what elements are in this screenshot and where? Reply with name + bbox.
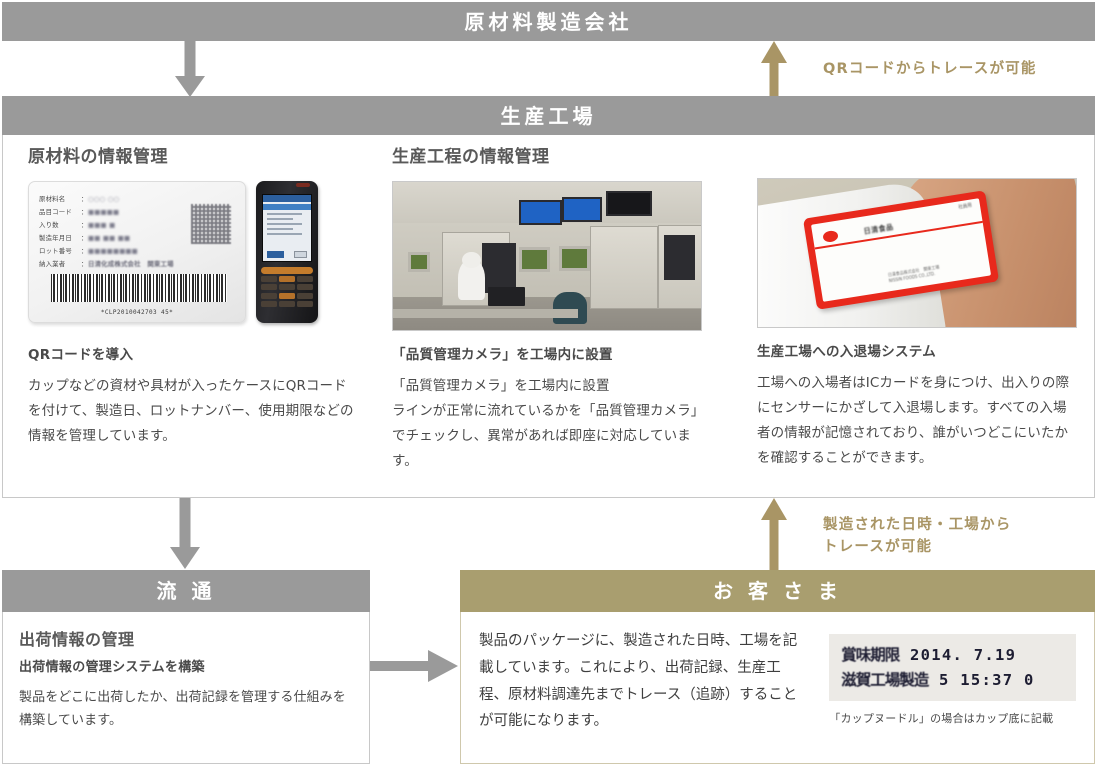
customer-content: 製品のパッケージに、製造された日時、工場を記載しています。これにより、出荷記録、… xyxy=(461,612,1094,735)
trace-caption-date-line1: 製造された日時・工場から xyxy=(823,514,1011,536)
trace-caption-date: 製造された日時・工場から トレースが可能 xyxy=(823,514,1011,559)
arrow-supplier-to-factory xyxy=(162,41,218,96)
photo-table xyxy=(393,309,578,318)
column-access-info: 日清食品 社員用 日清食品株式会社 関東工場NISSIN FOODS CO.,L… xyxy=(757,142,1077,471)
stamp-factory-label: 滋賀工場製造 xyxy=(841,671,928,689)
material-label-key: 入り数 xyxy=(39,220,81,229)
material-label-key: 納入業者 xyxy=(39,259,81,268)
arrow-head xyxy=(175,76,205,97)
material-label-value: ■■■■■ xyxy=(88,208,119,216)
scanner-key xyxy=(261,284,277,290)
arrow-trace-qr-up xyxy=(751,41,797,96)
material-media-row: 原材料名 ： ○○○ ○○ 品目コード ： ■■■■■ 入り数 ： ■■■ ■ … xyxy=(28,181,358,331)
trace-caption-date-line2: トレースが可能 xyxy=(823,536,1011,558)
scanner-key xyxy=(279,284,295,290)
distribution-banner-label: 流 通 xyxy=(157,581,216,601)
factory-banner-label: 生産工場 xyxy=(501,106,597,126)
scanner-text-line xyxy=(267,233,302,236)
access-sub-heading: 生産工場への入退場システム xyxy=(757,342,1077,362)
handheld-scanner-image xyxy=(256,181,318,323)
arrow-shaft xyxy=(770,58,779,96)
card-footer-text: 日清食品株式会社 関東工場NISSIN FOODS CO.,LTD. xyxy=(887,264,940,284)
material-label-image: 原材料名 ： ○○○ ○○ 品目コード ： ■■■■■ 入り数 ： ■■■ ■ … xyxy=(28,181,246,323)
arrow-factory-to-distribution xyxy=(157,498,213,570)
process-body-line1: 「品質管理カメラ」を工場内に設置 xyxy=(392,374,702,399)
photo-wall-monitor xyxy=(519,200,562,225)
material-label-colon: ： xyxy=(81,233,88,242)
scanner-key xyxy=(297,293,313,299)
material-label-colon: ： xyxy=(81,220,88,229)
column-heading xyxy=(757,142,1077,164)
material-label-key: 製造年月日 xyxy=(39,233,81,242)
factory-banner: 生産工場 xyxy=(2,96,1095,135)
distribution-panel: 出荷情報の管理 出荷情報の管理システムを構築 製品をどこに出荷したか、出荷記録を… xyxy=(2,612,370,764)
column-heading: 生産工程の情報管理 xyxy=(392,142,702,167)
distribution-content: 出荷情報の管理 出荷情報の管理システムを構築 製品をどこに出荷したか、出荷記録を… xyxy=(3,612,369,732)
scanner-text-line xyxy=(267,213,302,216)
photo-quality-camera-monitor xyxy=(519,247,550,272)
material-label-colon: ： xyxy=(81,207,88,216)
material-label-row: 納入業者 ： 日清化成株式会社 関東工場 xyxy=(39,257,236,270)
distribution-heading: 出荷情報の管理 xyxy=(19,626,353,650)
card-stripe xyxy=(814,221,983,250)
scanner-key xyxy=(297,284,313,290)
material-label-key: 品目コード xyxy=(39,207,81,216)
scanner-blue-row xyxy=(263,204,311,210)
scanner-screen-button xyxy=(267,251,284,258)
stamp-expiry-value: 2014. 7.19 xyxy=(910,646,1016,664)
supplier-banner: 原材料製造会社 xyxy=(2,2,1095,41)
photo-wall-monitor xyxy=(606,191,652,216)
scanner-key xyxy=(261,276,277,282)
barcode-text: *CLP2010042703 45* xyxy=(29,309,245,316)
photo-door-window xyxy=(664,235,695,279)
stamp-note: 「カップヌードル」の場合はカップ底に記載 xyxy=(829,710,1076,726)
arrow-distribution-to-customer xyxy=(370,650,460,682)
arrow-shaft xyxy=(180,498,191,548)
material-label-value: ■■■■■■■■ xyxy=(88,247,138,255)
supplier-banner-label: 原材料製造会社 xyxy=(465,12,633,32)
stamp-line-2: 滋賀工場製造 5 15:37 0 xyxy=(841,668,1066,693)
arrow-trace-date-up xyxy=(751,498,797,570)
scanner-key xyxy=(261,301,277,307)
photo-laptop xyxy=(488,287,525,306)
company-logo-icon xyxy=(822,230,839,243)
material-label-key: 原材料名 xyxy=(39,194,81,203)
material-label-colon: ： xyxy=(81,259,88,268)
ic-card-photo: 日清食品 社員用 日清食品株式会社 関東工場NISSIN FOODS CO.,L… xyxy=(757,178,1077,328)
material-body-text: カップなどの資材や具材が入ったケースにQRコードを付けて、製造日、ロットナンバー… xyxy=(28,374,358,449)
arrow-shaft xyxy=(770,518,779,570)
distribution-banner: 流 通 xyxy=(2,570,370,612)
scanner-key xyxy=(279,301,295,307)
customer-banner-label: お 客 さ ま xyxy=(713,581,842,601)
photo-quality-camera-monitor xyxy=(408,252,430,273)
column-material-info: 原材料の情報管理 原材料名 ： ○○○ ○○ 品目コード ： ■■■■■ 入り数… xyxy=(28,142,358,449)
material-label-value: ■■■ ■ xyxy=(88,221,115,229)
scanner-screen xyxy=(262,194,312,262)
stamp-expiry-label: 賞味期限 xyxy=(841,646,899,664)
scanner-keypad xyxy=(261,267,313,319)
material-label-colon: ： xyxy=(81,246,88,255)
scanner-screen-button xyxy=(294,251,307,258)
stamp-line-1: 賞味期限 2014. 7.19 xyxy=(841,643,1066,668)
company-logo-text: 日清食品 xyxy=(863,222,894,237)
arrow-head xyxy=(761,498,787,520)
photo-door-window xyxy=(482,243,516,293)
photo-worker-head xyxy=(462,252,480,268)
customer-panel: 製品のパッケージに、製造された日時、工場を記載しています。これにより、出荷記録、… xyxy=(460,612,1095,764)
customer-banner: お 客 さ ま xyxy=(460,570,1095,612)
arrow-shaft xyxy=(185,41,196,77)
photo-wall-monitor xyxy=(562,197,602,222)
card-corner-text: 社員用 xyxy=(958,203,972,211)
photo-door xyxy=(590,226,658,309)
qr-code-icon xyxy=(191,204,231,244)
scanner-key xyxy=(279,276,295,282)
material-label-key: ロット番号 xyxy=(39,246,81,255)
material-sub-heading: QRコードを導入 xyxy=(28,345,358,365)
customer-stamp-area: 賞味期限 2014. 7.19 滋賀工場製造 5 15:37 0 「カップヌード… xyxy=(829,628,1076,735)
arrow-head xyxy=(170,547,200,569)
access-body-text: 工場への入場者はICカードを身につけ、出入りの際にセンサーにかざして入退場します… xyxy=(757,371,1077,471)
scanner-text-line xyxy=(267,228,293,231)
photo-id-card: 日清食品 社員用 日清食品株式会社 関東工場NISSIN FOODS CO.,L… xyxy=(811,198,992,301)
scanner-key xyxy=(297,301,313,307)
material-label-value: ○○○ ○○ xyxy=(88,195,119,203)
material-label-value: 日清化成株式会社 関東工場 xyxy=(88,259,174,268)
scanner-key xyxy=(261,293,277,299)
scanner-scan-key xyxy=(261,267,313,274)
arrow-head xyxy=(428,650,458,682)
photo-chair xyxy=(553,292,587,325)
customer-body-text: 製品のパッケージに、製造された日時、工場を記載しています。これにより、出荷記録、… xyxy=(479,628,807,735)
column-heading: 原材料の情報管理 xyxy=(28,142,358,167)
scanner-top-led xyxy=(296,183,310,187)
scanner-key xyxy=(297,276,313,282)
material-label-value: ■■ ■■ ■■ xyxy=(88,234,130,242)
column-process-info: 生産工程の情報管理 「品質管理カメラ」を工場内に設置 「品質管理カメラ」を工場内… xyxy=(392,142,702,474)
arrow-shaft xyxy=(370,661,432,671)
photo-quality-camera-monitor xyxy=(559,246,590,271)
package-date-stamp-image: 賞味期限 2014. 7.19 滋賀工場製造 5 15:37 0 xyxy=(829,634,1076,701)
stamp-factory-value: 5 15:37 0 xyxy=(939,671,1035,689)
material-label-row: ロット番号 ： ■■■■■■■■ xyxy=(39,244,236,257)
distribution-body-text: 製品をどこに出荷したか、出荷記録を管理する仕組みを構築しています。 xyxy=(19,686,353,733)
barcode-icon xyxy=(51,274,227,302)
process-body-text: ラインが正常に流れているかを「品質管理カメラ」でチェックし、異常があれば即座に対… xyxy=(392,399,702,474)
scanner-key xyxy=(279,293,295,299)
scanner-text-line xyxy=(267,218,293,221)
process-sub-heading: 「品質管理カメラ」を工場内に設置 xyxy=(392,345,702,365)
quality-camera-photo xyxy=(392,181,702,331)
material-label-colon: ： xyxy=(81,194,88,203)
trace-caption-qr: QRコードからトレースが可能 xyxy=(823,58,1037,80)
scanner-text-line xyxy=(267,223,302,226)
scanner-titlebar xyxy=(263,195,311,202)
distribution-sub-heading: 出荷情報の管理システムを構築 xyxy=(19,658,353,678)
